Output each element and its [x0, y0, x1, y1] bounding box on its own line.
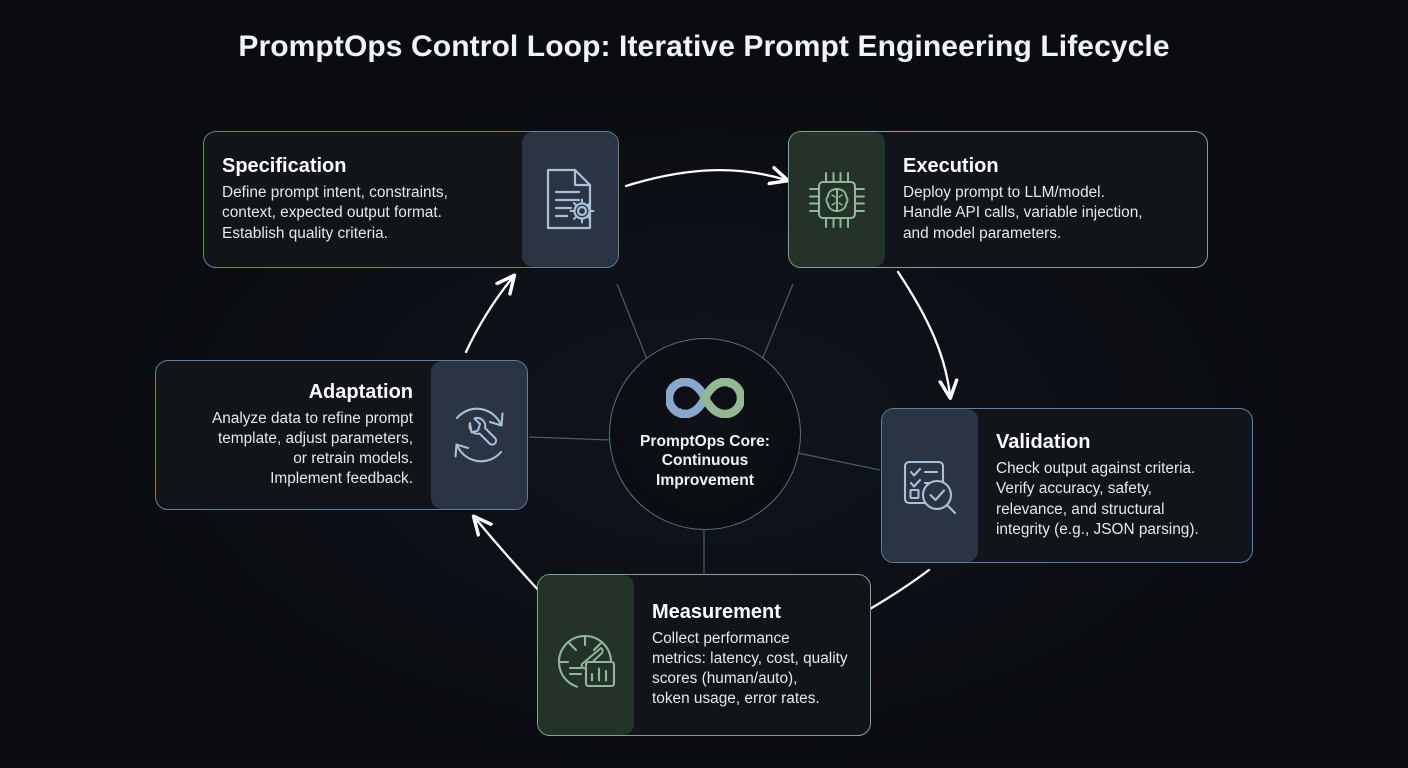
cpu-brain-icon	[804, 167, 870, 233]
node-desc-line: metrics: latency, cost, quality	[652, 649, 852, 669]
node-title: Validation	[996, 431, 1234, 454]
node-desc-line: scores (human/auto),	[652, 669, 852, 689]
node-icon-panel	[789, 132, 885, 267]
node-desc-line: template, adjust parameters,	[174, 429, 413, 449]
node-desc-line: Check output against criteria.	[996, 459, 1234, 479]
arrow-measurement-to-adaptation	[475, 518, 540, 592]
node-desc-line: relevance, and structural	[996, 500, 1234, 520]
infinity-loop-icon	[666, 378, 744, 418]
node-desc-line: Collect performance	[652, 629, 852, 649]
arrow-specification-to-execution	[626, 170, 786, 186]
node-icon-panel	[522, 132, 618, 267]
node-description: Collect performance metrics: latency, co…	[652, 629, 852, 710]
node-description: Deploy prompt to LLM/model. Handle API c…	[903, 183, 1189, 244]
node-desc-line: integrity (e.g., JSON parsing).	[996, 520, 1234, 540]
stage-node-measurement[interactable]: Measurement Collect performance metrics:…	[537, 574, 871, 736]
node-desc-line: Deploy prompt to LLM/model.	[903, 183, 1189, 203]
node-desc-line: Handle API calls, variable injection,	[903, 203, 1189, 223]
hub-label-line: PromptOps Core:	[640, 432, 770, 452]
diagram-canvas: PromptOps Control Loop: Iterative Prompt…	[0, 0, 1408, 768]
node-icon-panel	[538, 575, 634, 735]
document-gear-icon	[539, 165, 601, 235]
node-desc-line: Establish quality criteria.	[222, 224, 504, 244]
hub-label-line: Improvement	[640, 471, 770, 491]
node-title: Execution	[903, 155, 1189, 178]
hub-spoke-adaptation	[529, 437, 610, 440]
node-description: Check output against criteria. Verify ac…	[996, 459, 1234, 540]
arrow-execution-to-validation	[898, 272, 950, 396]
gauge-barchart-icon	[553, 622, 619, 688]
node-body: Specification Define prompt intent, cons…	[204, 132, 522, 267]
node-title: Specification	[222, 155, 504, 178]
node-description: Analyze data to refine prompt template, …	[174, 409, 413, 490]
node-desc-line: token usage, error rates.	[652, 689, 852, 709]
node-body: Adaptation Analyze data to refine prompt…	[156, 361, 431, 509]
node-desc-line: Implement feedback.	[174, 469, 413, 489]
node-desc-line: and model parameters.	[903, 224, 1189, 244]
hub-label-line: Continuous	[640, 451, 770, 471]
stage-node-execution[interactable]: Execution Deploy prompt to LLM/model. Ha…	[788, 131, 1208, 268]
node-icon-panel	[882, 409, 978, 562]
node-body: Execution Deploy prompt to LLM/model. Ha…	[885, 132, 1207, 267]
wrench-refresh-icon	[445, 401, 513, 469]
node-desc-line: or retrain models.	[174, 449, 413, 469]
node-desc-line: Verify accuracy, safety,	[996, 479, 1234, 499]
stage-node-validation[interactable]: Validation Check output against criteria…	[881, 408, 1253, 563]
node-desc-line: Define prompt intent, constraints,	[222, 183, 504, 203]
node-desc-line: context, expected output format.	[222, 203, 504, 223]
hub-label: PromptOps Core: Continuous Improvement	[630, 432, 780, 491]
stage-node-adaptation[interactable]: Adaptation Analyze data to refine prompt…	[155, 360, 528, 510]
node-icon-panel	[431, 361, 527, 509]
node-body: Measurement Collect performance metrics:…	[634, 575, 870, 735]
stage-node-specification[interactable]: Specification Define prompt intent, cons…	[203, 131, 619, 268]
arrow-adaptation-to-specification	[466, 277, 513, 352]
node-body: Validation Check output against criteria…	[978, 409, 1252, 562]
node-description: Define prompt intent, constraints, conte…	[222, 183, 504, 244]
hub-icon-wrap	[666, 378, 744, 423]
hub-spoke-validation	[793, 452, 880, 470]
node-title: Adaptation	[174, 381, 413, 404]
page-title: PromptOps Control Loop: Iterative Prompt…	[0, 30, 1408, 64]
node-title: Measurement	[652, 601, 852, 624]
node-desc-line: Analyze data to refine prompt	[174, 409, 413, 429]
hub-promptops-core[interactable]: PromptOps Core: Continuous Improvement	[609, 338, 801, 530]
checklist-magnifier-icon	[897, 453, 963, 519]
